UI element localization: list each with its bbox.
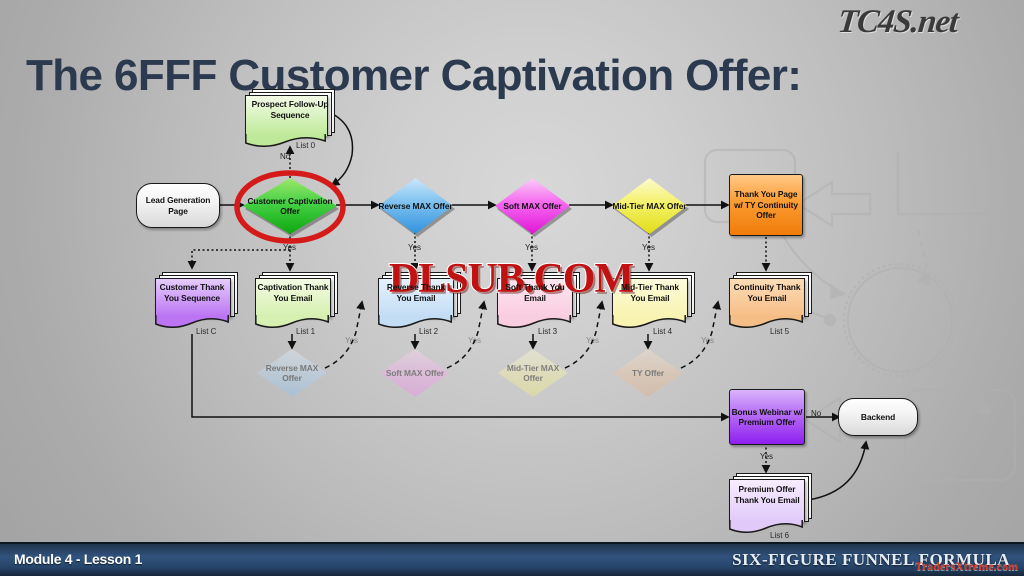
edge-label-yes-soft: Yes (525, 243, 538, 252)
edge-label-yes-reverse: Yes (408, 243, 421, 252)
node-customer-thank-you-sequence[interactable]: Customer Thank You Sequence (155, 272, 239, 326)
node-label: Lead Generation Page (137, 195, 219, 216)
list-label-6: List 6 (770, 531, 789, 540)
node-reverse-max-offer-repeat[interactable]: Reverse MAX Offer (257, 349, 327, 397)
node-prospect-follow-up-sequence[interactable]: Prospect Follow-Up Sequence (245, 89, 335, 143)
edge-label-no-backend: No (811, 409, 821, 418)
edge-label-yes-d4: Yes (701, 336, 714, 345)
doc-wave (612, 315, 687, 328)
node-label: Premium Offer Thank You Email (731, 484, 803, 505)
node-label: Customer Captivation Offer (243, 196, 337, 217)
node-mid-tier-max-offer[interactable]: Mid-Tier MAX Offer (612, 178, 687, 234)
node-premium-offer-thank-you-email[interactable]: Premium Offer Thank You Email (729, 473, 813, 531)
node-label: Mid-Tier MAX Offer (613, 201, 687, 212)
node-bonus-webinar-premium-offer[interactable]: Bonus Webinar w/ Premium Offer (729, 389, 805, 445)
node-label: TY Offer (632, 368, 664, 379)
node-soft-max-offer[interactable]: Soft MAX Offer (495, 178, 570, 234)
node-label: Reverse MAX Offer (378, 201, 452, 212)
footer-bar: Module 4 - Lesson 1 SIX-FIGURE FUNNEL FO… (0, 542, 1024, 576)
doc-wave (729, 315, 804, 328)
doc-wave (255, 315, 330, 328)
page-title: The 6FFF Customer Captivation Offer: (26, 51, 801, 101)
list-label-1: List 1 (296, 327, 315, 336)
watermark-tc4s: TC4S.net (836, 4, 959, 41)
node-soft-max-offer-repeat[interactable]: Soft MAX Offer (380, 349, 450, 397)
node-label: Customer Thank You Sequence (157, 282, 227, 303)
edge-label-yes-midtier: Yes (642, 243, 655, 252)
node-label: Soft MAX Offer (386, 368, 444, 379)
doc-wave (497, 315, 572, 328)
watermark-tradersxtreme: TradersXtreme.com (915, 559, 1018, 574)
list-label-4: List 4 (653, 327, 672, 336)
node-label: Thank You Page w/ TY Continuity Offer (730, 189, 802, 221)
doc-wave (378, 315, 453, 328)
node-label: Soft Thank You Email (499, 282, 571, 303)
node-label: Prospect Follow-Up Sequence (247, 99, 333, 120)
footer-module-label: Module 4 - Lesson 1 (14, 551, 142, 567)
list-label-3: List 3 (538, 327, 557, 336)
node-label: Backend (861, 412, 895, 423)
edge-label-yes-d3: Yes (586, 336, 599, 345)
node-thank-you-page-continuity[interactable]: Thank You Page w/ TY Continuity Offer (729, 174, 803, 236)
node-label: Reverse MAX Offer (257, 363, 327, 384)
edge-label-yes-premium: Yes (760, 452, 773, 461)
node-lead-generation-page[interactable]: Lead Generation Page (136, 183, 220, 228)
node-label: Mid-Tier Thank You Email (614, 282, 686, 303)
node-backend[interactable]: Backend (838, 398, 918, 436)
node-label: Reverse Thank You Email (380, 282, 452, 303)
node-mid-tier-max-offer-repeat[interactable]: Mid-Tier MAX Offer (498, 349, 568, 397)
edge-label-no-top: No (280, 152, 290, 161)
doc-wave (729, 520, 804, 533)
node-label: Soft MAX Offer (503, 201, 561, 212)
node-continuity-thank-you-email[interactable]: Continuity Thank You Email (729, 272, 813, 326)
edge-label-yes-d1: Yes (345, 336, 358, 345)
node-label: Mid-Tier MAX Offer (498, 363, 568, 384)
node-customer-captivation-offer[interactable]: Customer Captivation Offer (243, 178, 337, 234)
node-reverse-max-offer[interactable]: Reverse MAX Offer (378, 178, 453, 234)
edge-label-yes-cco: Yes (283, 243, 296, 252)
node-label: Captivation Thank You Email (257, 282, 329, 303)
node-captivation-thank-you-email[interactable]: Captivation Thank You Email (255, 272, 339, 326)
doc-wave (155, 315, 230, 328)
node-label: Continuity Thank You Email (731, 282, 803, 303)
list-label-5: List 5 (770, 327, 789, 336)
node-label: Bonus Webinar w/ Premium Offer (730, 407, 804, 428)
list-label-0: List 0 (296, 141, 315, 150)
slide-canvas: The 6FFF Customer Captivation Offer: (0, 0, 1024, 576)
edge-label-yes-d2: Yes (468, 336, 481, 345)
list-label-c: List C (196, 327, 216, 336)
list-label-2: List 2 (419, 327, 438, 336)
node-ty-offer[interactable]: TY Offer (613, 349, 683, 397)
